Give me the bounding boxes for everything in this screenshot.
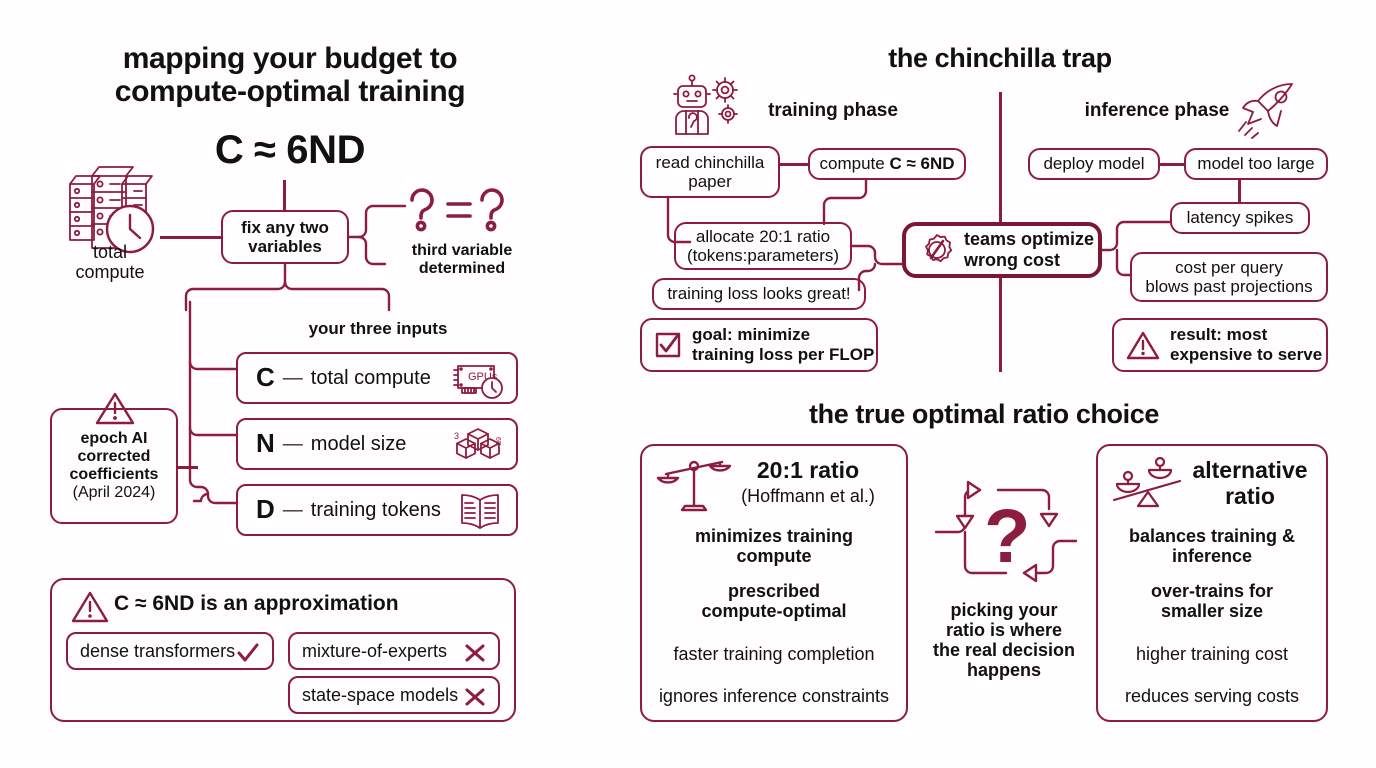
trap-node-training-loss-great[interactable]: training loss looks great! — [652, 278, 866, 310]
center-node-line1: teams optimize — [964, 229, 1094, 250]
model-too-large-text: model too large — [1197, 154, 1314, 173]
total-compute-line1: total — [40, 242, 180, 262]
checkbox-icon — [654, 331, 682, 359]
ratio-middle-line4: happens — [920, 660, 1088, 680]
epoch-note-line4: (April 2024) — [70, 484, 159, 502]
ratio-middle-line2: ratio is where — [920, 620, 1088, 640]
ratio-left-point-4: ignores inference constraints — [646, 686, 902, 706]
connector-compute-to-fix — [160, 236, 222, 239]
input-symbol-d: D — [256, 495, 275, 524]
ratio-left-point-1-line1: minimizes training — [654, 526, 894, 546]
ratio-left-heading: 20:1 ratio — [728, 458, 888, 484]
3d-cubes-icon: 3 6B — [452, 425, 504, 467]
ratio-right-point-4: reduces serving costs — [1104, 686, 1320, 706]
robot-gears-icon — [668, 72, 746, 136]
read-paper-line2: paper — [656, 172, 765, 191]
ratio-right-point-1-line2: inference — [1104, 546, 1320, 566]
compute-formula-text: compute C ≈ 6ND — [820, 154, 955, 173]
fix-two-variables-node[interactable]: fix any two variables — [221, 210, 349, 264]
gpu-card-clock-icon: GPUs — [450, 360, 506, 400]
ratio-right-point-2: over-trains for smaller size — [1104, 581, 1320, 621]
question-cycle-icon: ? — [936, 470, 1076, 600]
input-row-d[interactable]: D — training tokens — [236, 484, 518, 536]
goal-callout[interactable]: goal: minimize training loss per FLOP — [640, 318, 878, 372]
ratio-right-point-1: balances training & inference — [1104, 526, 1320, 566]
latency-spikes-text: latency spikes — [1187, 208, 1294, 227]
question-equals-question-icon — [406, 186, 510, 240]
connector-epoch-to-rail — [176, 466, 198, 469]
infographic-root: mapping your budget to compute-optimal t… — [0, 0, 1376, 768]
input-dash-d: — — [283, 499, 303, 521]
left-panel-title: mapping your budget to compute-optimal t… — [60, 42, 520, 108]
trap-node-compute-formula[interactable]: compute C ≈ 6ND — [808, 148, 966, 180]
connector-formula-to-fix — [283, 180, 286, 212]
result-callout[interactable]: result: most expensive to serve — [1112, 318, 1328, 372]
connector-compute-to-allocate — [820, 180, 870, 226]
total-compute-label: total compute — [40, 242, 180, 282]
ratio-right-point-2-line2: smaller size — [1104, 601, 1320, 621]
formula-c-6nd: C ≈ 6ND — [150, 128, 430, 172]
approximation-heading: C ≈ 6ND is an approximation — [114, 592, 454, 616]
fix-node-line1: fix any two — [241, 218, 329, 237]
broken-gear-icon — [918, 231, 956, 269]
approx-item-label-dense: dense transformers — [80, 641, 235, 661]
cross-icon — [464, 643, 486, 663]
warning-triangle-icon-result — [1126, 330, 1160, 360]
epoch-note-line1: epoch AI — [70, 430, 159, 448]
cross-icon-2 — [464, 687, 486, 707]
ratio-left-point-3: faster training completion — [650, 644, 898, 664]
center-node-line2: wrong cost — [964, 250, 1094, 271]
your-three-inputs-heading: your three inputs — [268, 319, 488, 338]
input-row-n[interactable]: N — model size 3 6B — [236, 418, 518, 470]
input-label-n: model size — [311, 433, 407, 455]
connector-inputs-rail — [186, 302, 246, 540]
input-dash-n: — — [283, 433, 303, 455]
result-callout-line1: result: most — [1170, 325, 1322, 345]
trap-node-deploy-model[interactable]: deploy model — [1028, 148, 1160, 180]
ratio-middle-line1: picking your — [920, 600, 1088, 620]
input-label-c: total compute — [311, 367, 431, 389]
ratio-right-heading-line1: alternative — [1176, 458, 1324, 484]
seesaw-icon — [1108, 452, 1186, 512]
ratio-right-heading-line2: ratio — [1176, 484, 1324, 510]
trap-node-allocate-ratio[interactable]: allocate 20:1 ratio (tokens:parameters) — [674, 222, 852, 270]
fix-node-line2: variables — [241, 237, 329, 256]
ratio-left-point-2: prescribed compute-optimal — [654, 581, 894, 621]
ratio-left-point-1: minimizes training compute — [654, 526, 894, 566]
approx-item-state-space-models[interactable]: state-space models — [288, 676, 500, 714]
teams-optimize-wrong-cost-node[interactable]: teams optimize wrong cost — [902, 222, 1102, 278]
input-label-d: training tokens — [311, 499, 441, 521]
trap-node-read-paper[interactable]: read chinchilla paper — [640, 146, 780, 198]
input-symbol-n: N — [256, 429, 275, 458]
warning-triangle-icon-approx — [70, 590, 110, 624]
svg-text:?: ? — [984, 494, 1030, 579]
open-book-icon — [456, 492, 504, 532]
warning-triangle-icon-epoch — [94, 390, 136, 426]
ratio-right-point-1-line1: balances training & — [1104, 526, 1320, 546]
trap-node-latency-spikes[interactable]: latency spikes — [1170, 202, 1310, 234]
ratio-left-subheading: (Hoffmann et al.) — [718, 486, 898, 506]
third-variable-label: third variable determined — [388, 242, 536, 278]
svg-text:6B: 6B — [494, 437, 501, 446]
connector-center-to-inference — [1102, 210, 1174, 290]
total-compute-line2: compute — [40, 262, 180, 282]
input-row-c[interactable]: C — total compute GPUs — [236, 352, 518, 404]
ratio-left-point-1-line2: compute — [654, 546, 894, 566]
svg-text:3: 3 — [454, 431, 459, 441]
goal-callout-line1: goal: minimize — [692, 325, 874, 345]
connector-deploy-to-toolarge — [1160, 163, 1184, 166]
allocate-ratio-line2: (tokens:parameters) — [687, 246, 839, 265]
epoch-note-line2: corrected — [70, 448, 159, 466]
ratio-right-point-3: higher training cost — [1104, 644, 1320, 664]
left-title-line1: mapping your budget to — [60, 42, 520, 75]
read-paper-line1: read chinchilla — [656, 153, 765, 172]
ratio-panel-title: the true optimal ratio choice — [760, 400, 1208, 430]
trap-node-model-too-large[interactable]: model too large — [1184, 148, 1328, 180]
approx-item-mixture-of-experts[interactable]: mixture-of-experts — [288, 632, 500, 670]
approx-item-label-ssm: state-space models — [302, 685, 458, 705]
ratio-right-heading: alternative ratio — [1176, 458, 1324, 510]
training-phase-label: training phase — [748, 100, 918, 121]
ratio-right-point-2-line1: over-trains for — [1104, 581, 1320, 601]
inference-phase-label: inference phase — [1072, 100, 1242, 121]
connector-toolarge-to-latency — [1238, 180, 1241, 202]
trap-panel-title: the chinchilla trap — [820, 44, 1180, 74]
deploy-model-text: deploy model — [1043, 154, 1144, 173]
left-title-line2: compute-optimal training — [60, 75, 520, 108]
ratio-left-point-2-line1: prescribed — [654, 581, 894, 601]
ratio-left-point-2-line2: compute-optimal — [654, 601, 894, 621]
allocate-ratio-line1: allocate 20:1 ratio — [687, 227, 839, 246]
epoch-note-line3: coefficients — [70, 466, 159, 484]
input-symbol-c: C — [256, 363, 275, 392]
ratio-middle-line3: the real decision — [920, 640, 1088, 660]
connector-read-to-compute — [780, 163, 808, 166]
ratio-middle-caption: picking your ratio is where the real dec… — [920, 600, 1088, 681]
approx-item-label-moe: mixture-of-experts — [302, 641, 447, 661]
third-variable-line1: third variable — [388, 242, 536, 260]
result-callout-line2: expensive to serve — [1170, 345, 1322, 365]
connector-read-to-allocate — [664, 198, 694, 250]
balance-scale-icon — [658, 452, 730, 518]
approx-item-dense-transformers[interactable]: dense transformers — [66, 632, 274, 670]
input-dash-c: — — [283, 367, 303, 389]
third-variable-line2: determined — [388, 260, 536, 278]
check-icon — [236, 642, 260, 664]
rocket-icon — [1236, 78, 1304, 140]
goal-callout-line2: training loss per FLOP — [692, 345, 874, 365]
training-loss-great-text: training loss looks great! — [667, 284, 850, 303]
